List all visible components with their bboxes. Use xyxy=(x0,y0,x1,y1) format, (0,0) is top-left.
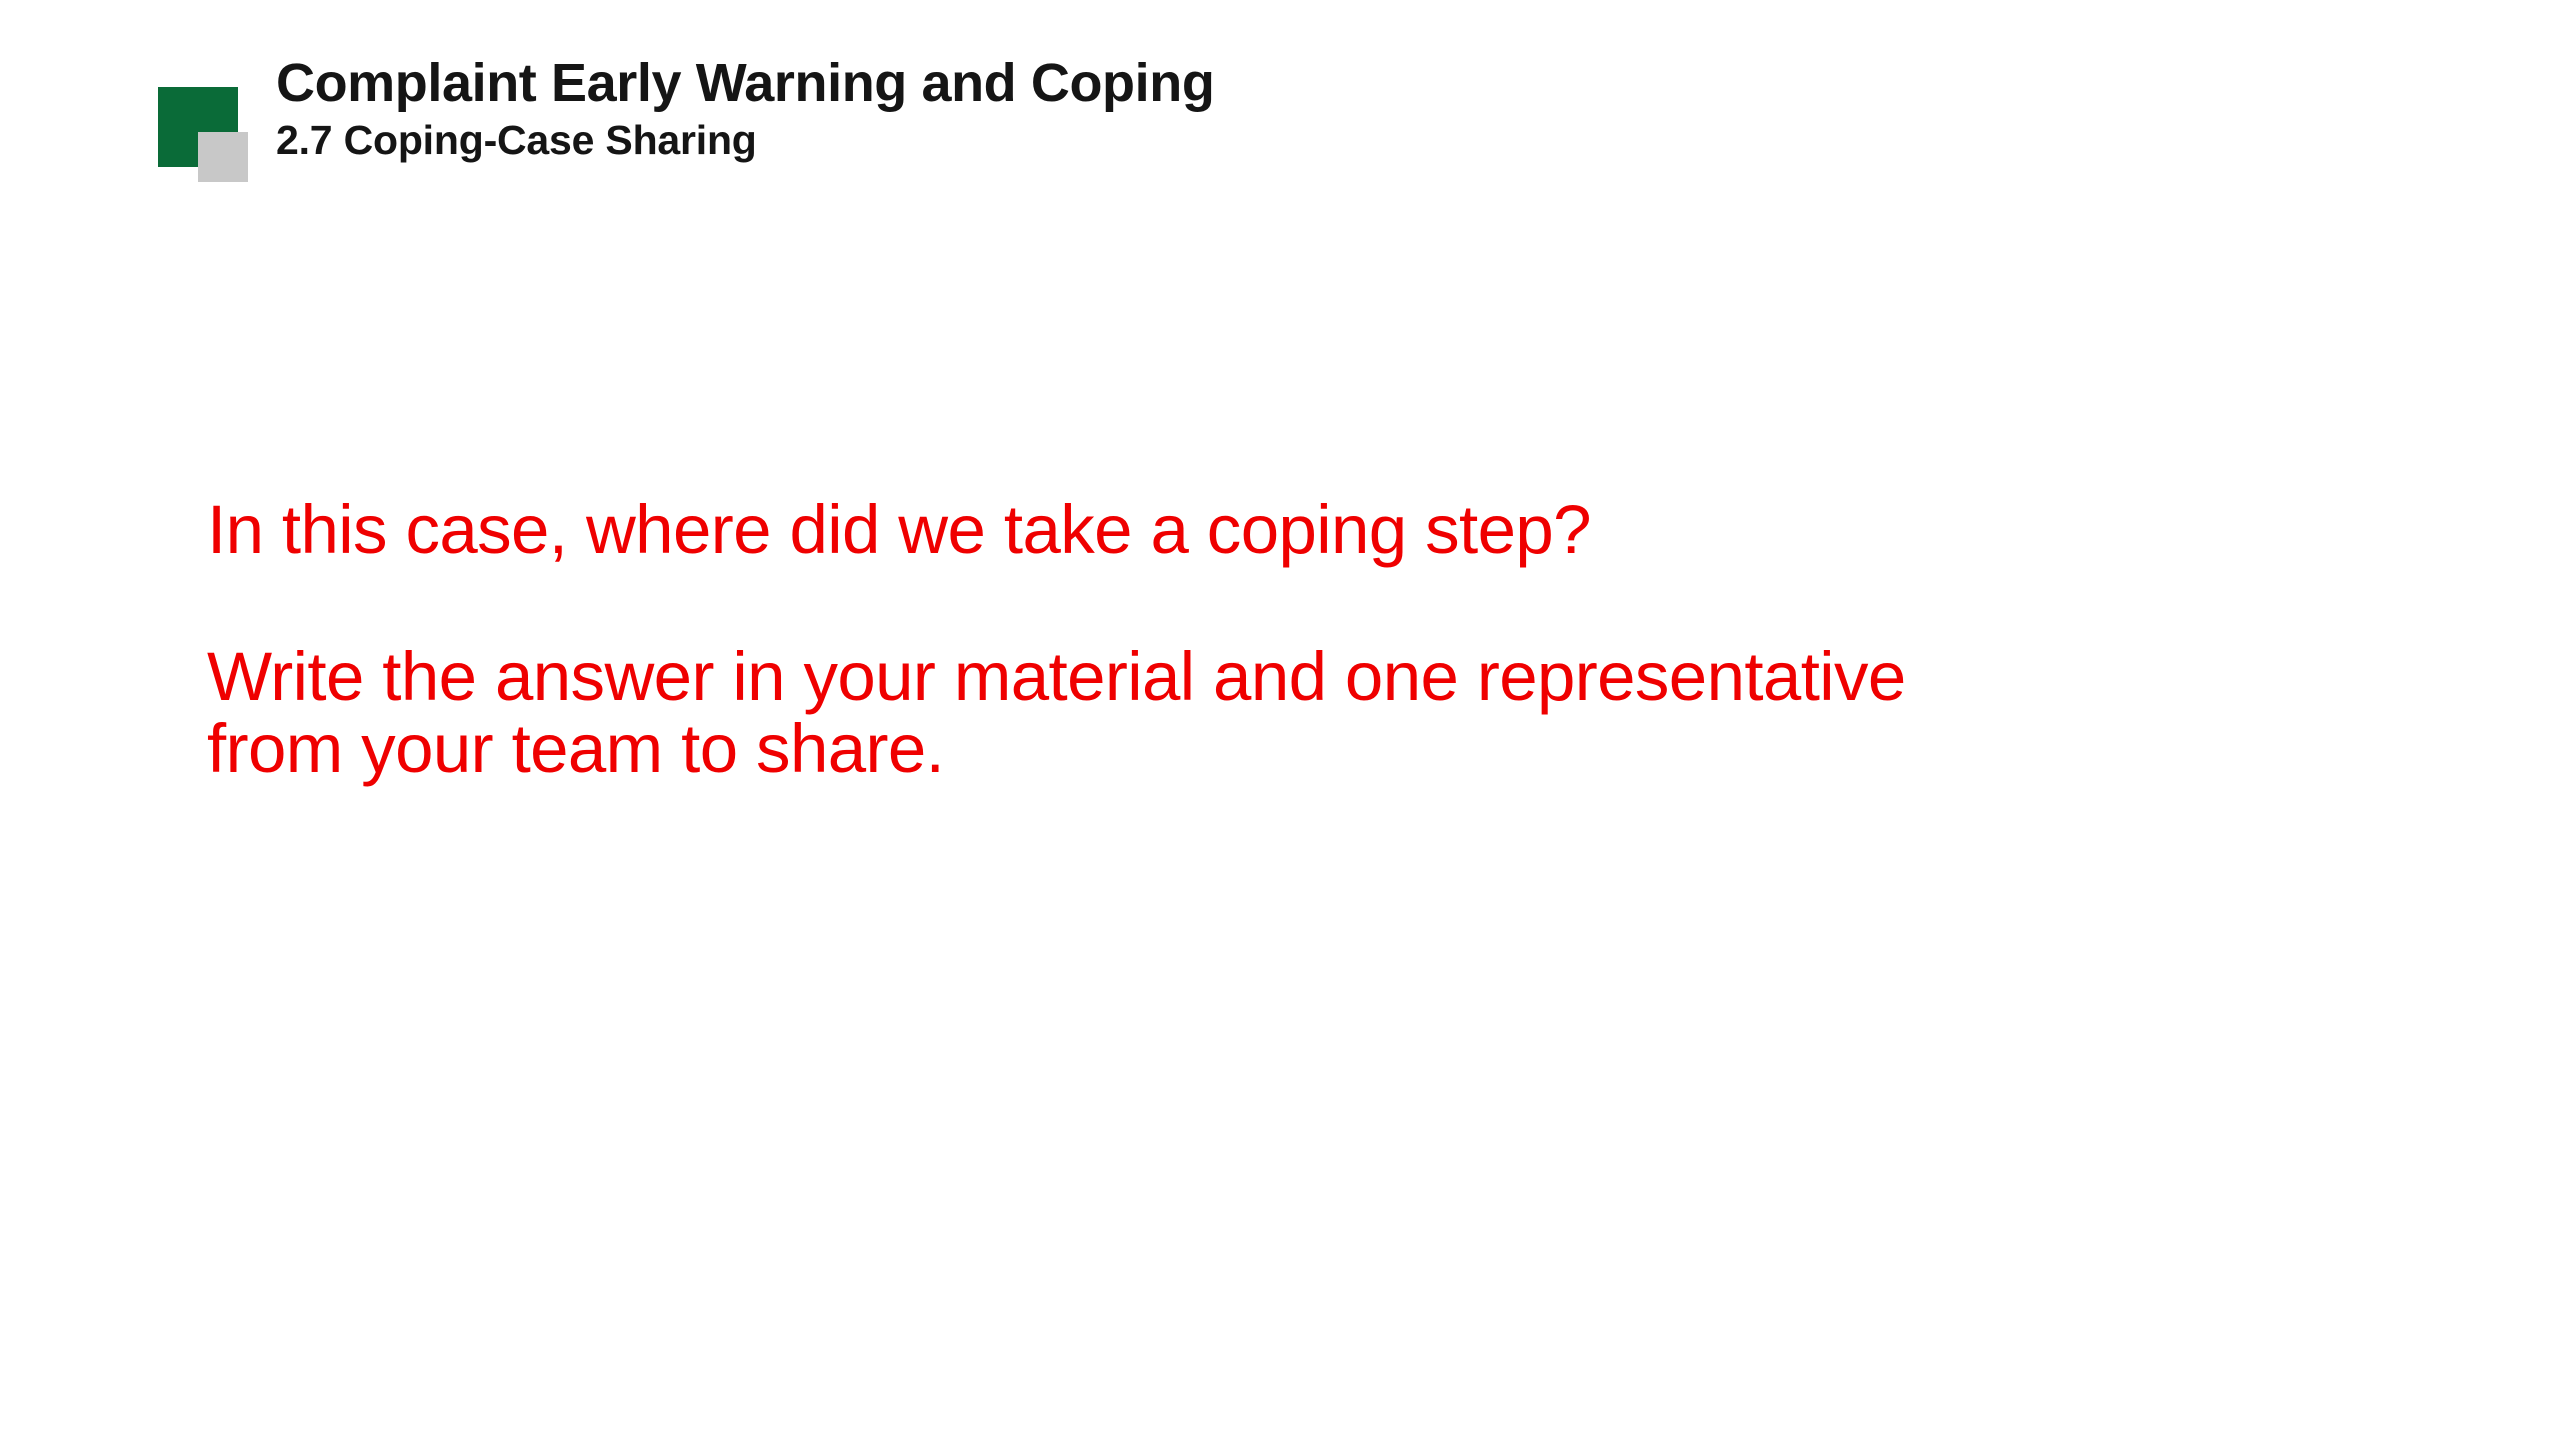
question-text: In this case, where did we take a coping… xyxy=(207,488,2327,572)
deck-title: Complaint Early Warning and Coping xyxy=(276,52,2176,114)
logo-gray-square-icon xyxy=(198,132,248,182)
deck-subtitle: 2.7 Coping-Case Sharing xyxy=(276,116,2176,164)
instruction-line-1: Write the answer in your material and on… xyxy=(207,641,2107,713)
slide-header: Complaint Early Warning and Coping 2.7 C… xyxy=(0,0,2560,210)
instruction-text: Write the answer in your material and on… xyxy=(207,641,2107,785)
slide-body: In this case, where did we take a coping… xyxy=(207,488,2327,785)
instruction-line-2: from your team to share. xyxy=(207,713,2107,785)
brand-logo-icon xyxy=(158,87,253,182)
body-spacer xyxy=(207,572,2327,641)
presentation-slide: Complaint Early Warning and Coping 2.7 C… xyxy=(0,0,2560,1440)
header-text-group: Complaint Early Warning and Coping 2.7 C… xyxy=(276,52,2176,164)
